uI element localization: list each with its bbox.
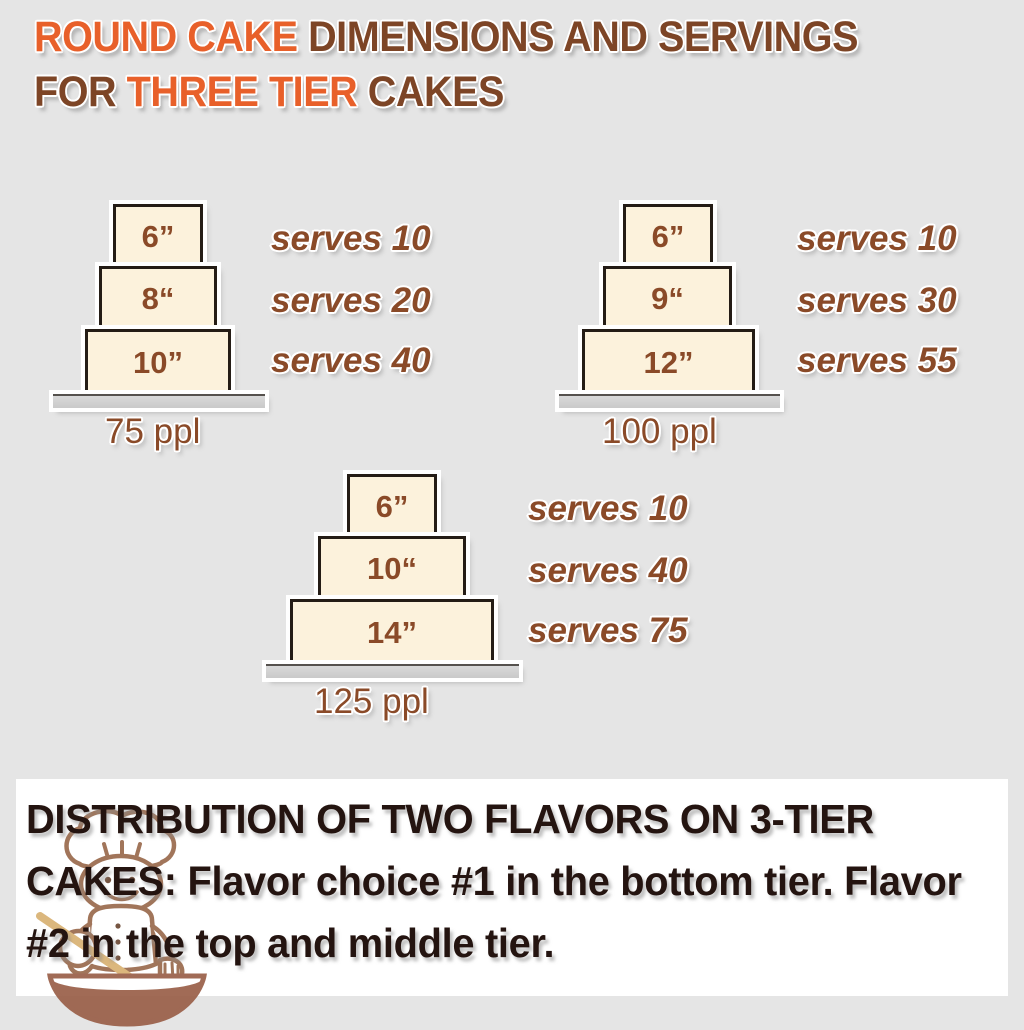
cake-tier-bottom: 10” <box>85 329 231 393</box>
cake-tier-middle-label: 8“ <box>142 283 175 314</box>
cake-tier-bottom: 14” <box>290 599 494 663</box>
cake-total-servings-label: 75 ppl <box>105 412 200 452</box>
cake-tier-bottom-label: 14” <box>367 617 417 648</box>
cake-tier-top-label: 6” <box>142 221 175 252</box>
cake-tier-top: 6” <box>113 204 203 266</box>
serves-label-bottom: serves 75 <box>528 611 688 651</box>
cake-board <box>266 664 519 678</box>
serves-label-top: serves 10 <box>528 489 688 529</box>
cake-tier-top: 6” <box>623 204 713 266</box>
serves-label-middle: serves 40 <box>528 551 688 591</box>
serves-label-middle: serves 30 <box>797 281 957 321</box>
cake-tier-top-label: 6” <box>652 221 685 252</box>
cake-tier-bottom-label: 10” <box>133 347 183 378</box>
cake-tier-top: 6” <box>347 474 437 536</box>
serves-label-top: serves 10 <box>797 219 957 259</box>
cake-total-servings-label: 125 ppl <box>314 682 429 722</box>
serves-label-bottom: serves 55 <box>797 341 957 381</box>
cake-tier-middle: 10“ <box>318 536 466 599</box>
cake-tier-middle-label: 10“ <box>367 553 417 584</box>
cake-board <box>53 394 265 408</box>
cake-tier-top-label: 6” <box>376 491 409 522</box>
cake-tier-middle: 8“ <box>99 266 217 329</box>
cake-diagram-125ppl: 6” 10“ 14” 125 ppl serves 10 serves 40 s… <box>256 270 768 730</box>
note-text: DISTRIBUTION OF TWO FLAVORS ON 3-TIER CA… <box>26 788 981 974</box>
serves-label-top: serves 10 <box>271 219 431 259</box>
